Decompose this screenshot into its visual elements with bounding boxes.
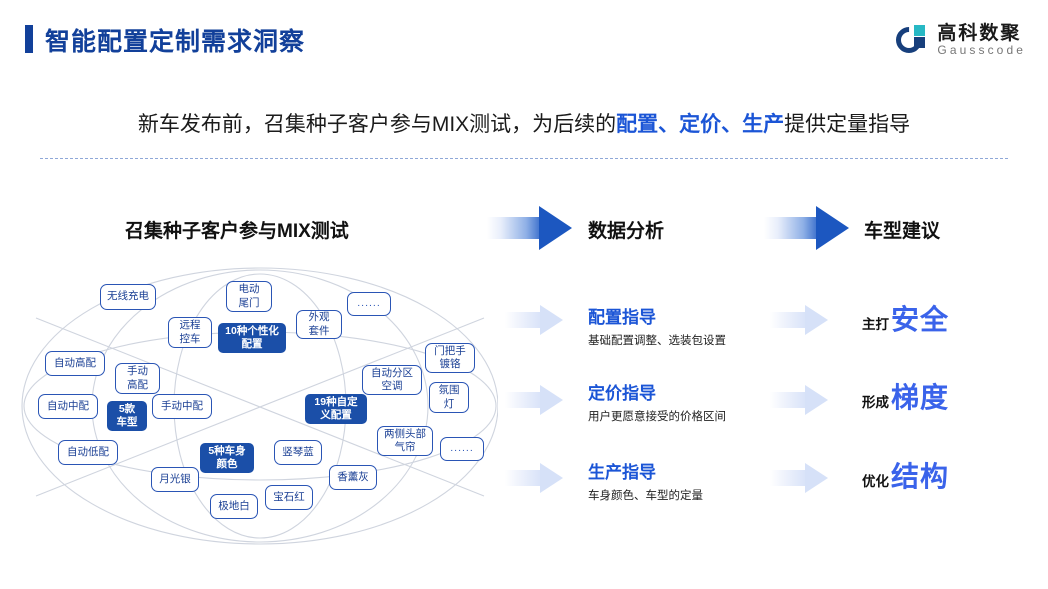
arrow-shaft (505, 392, 543, 408)
result-item-2: 形成 梯度 (862, 376, 949, 416)
diagram-node[interactable]: 远程 控车 (168, 317, 212, 348)
logo-square-teal-icon (914, 25, 925, 36)
diagram-node[interactable]: ...... (347, 292, 391, 316)
arrow-head (539, 206, 572, 250)
diagram-node[interactable]: 无线充电 (100, 284, 156, 310)
arrow-shaft (487, 217, 543, 239)
diagram-node[interactable]: 自动分区 空调 (362, 365, 422, 395)
logo-name-en: Gausscode (937, 44, 1026, 57)
result-prefix-2: 形成 (862, 391, 889, 411)
analysis-subtitle-2: 用户更愿意接受的价格区间 (588, 408, 726, 424)
analysis-subtitle-1: 基础配置调整、选装包设置 (588, 332, 726, 348)
result-item-1: 主打 安全 (862, 298, 949, 338)
diagram-node[interactable]: 极地白 (210, 494, 258, 519)
result-keyword-3: 结构 (891, 455, 949, 495)
diagram-node[interactable]: 自动高配 (45, 351, 105, 376)
diagram-node[interactable]: 10种个性化 配置 (218, 323, 286, 353)
slide-header: 智能配置定制需求洞察 高科数聚 Gausscode (0, 0, 1048, 74)
diagram-node[interactable]: 电动 尾门 (226, 281, 272, 312)
analysis-title-2: 定价指导 (588, 379, 726, 404)
arrow-head (540, 385, 563, 415)
diagram-node[interactable]: 月光银 (151, 467, 199, 492)
diagram-node[interactable]: 手动 高配 (115, 363, 160, 394)
title-accent-bar (25, 25, 33, 53)
arrow-head (816, 206, 849, 250)
analysis-title-3: 生产指导 (588, 458, 703, 483)
arrow-head (805, 463, 828, 493)
logo-text: 高科数聚 Gausscode (937, 24, 1026, 57)
result-keyword-1: 安全 (891, 298, 949, 338)
diagram-node[interactable]: 自动低配 (58, 440, 118, 465)
diagram-node[interactable]: ...... (440, 437, 484, 461)
flow-arrow-icon-2 (764, 206, 849, 250)
logo-square-navy-icon (914, 37, 925, 48)
page-title: 智能配置定制需求洞察 (45, 22, 305, 58)
diagram-node[interactable]: 门把手 镀铬 (425, 343, 475, 373)
analysis-title-1: 配置指导 (588, 303, 726, 328)
row-arrow-icon-right-3 (770, 463, 828, 493)
arrow-shaft (770, 312, 808, 328)
analysis-item-1[interactable]: 配置指导 基础配置调整、选装包设置 (588, 303, 726, 348)
diagram-node[interactable]: 19种自定 义配置 (305, 394, 367, 424)
diagram-node[interactable]: 竖琴蓝 (274, 440, 322, 465)
column-header-mix: 召集种子客户参与MIX测试 (125, 216, 349, 243)
arrow-shaft (505, 470, 543, 486)
diagram-node[interactable]: 外观 套件 (296, 310, 342, 339)
arrow-shaft (505, 312, 543, 328)
row-arrow-icon-mid-2 (505, 385, 563, 415)
section-divider (40, 158, 1008, 159)
diagram-node[interactable]: 氛围 灯 (429, 382, 469, 413)
flow-arrow-icon-1 (487, 206, 572, 250)
subtitle: 新车发布前，召集种子客户参与MIX测试，为后续的配置、定价、生产提供定量指导 (0, 108, 1048, 138)
diagram-node[interactable]: 手动中配 (152, 394, 212, 419)
analysis-item-3[interactable]: 生产指导 车身颜色、车型的定量 (588, 458, 703, 503)
arrow-head (540, 305, 563, 335)
arrow-shaft (764, 217, 820, 239)
result-keyword-2: 梯度 (891, 376, 949, 416)
arrow-shaft (770, 470, 808, 486)
analysis-subtitle-3: 车身颜色、车型的定量 (588, 487, 703, 503)
row-arrow-icon-right-2 (770, 385, 828, 415)
logo-glyph-icon (896, 23, 930, 57)
logo-name-cn: 高科数聚 (937, 24, 1026, 44)
subtitle-highlight: 配置、定价、生产 (616, 113, 784, 136)
slide-root: 智能配置定制需求洞察 高科数聚 Gausscode 新车发布前，召集种子客户参与… (0, 0, 1048, 589)
column-header-analysis: 数据分析 (588, 216, 664, 243)
arrow-head (805, 385, 828, 415)
diagram-node[interactable]: 5种车身 颜色 (200, 443, 254, 473)
brand-logo: 高科数聚 Gausscode (896, 18, 1026, 62)
result-prefix-3: 优化 (862, 470, 889, 490)
arrow-shaft (770, 392, 808, 408)
diagram-node[interactable]: 香薰灰 (329, 465, 377, 490)
result-item-3: 优化 结构 (862, 455, 949, 495)
analysis-item-2[interactable]: 定价指导 用户更愿意接受的价格区间 (588, 379, 726, 424)
row-arrow-icon-mid-1 (505, 305, 563, 335)
row-arrow-icon-mid-3 (505, 463, 563, 493)
diagram-node[interactable]: 5款 车型 (107, 401, 147, 431)
arrow-head (540, 463, 563, 493)
row-arrow-icon-right-1 (770, 305, 828, 335)
result-prefix-1: 主打 (862, 313, 889, 333)
subtitle-part-2: 提供定量指导 (784, 113, 910, 136)
arrow-head (805, 305, 828, 335)
diagram-node[interactable]: 自动中配 (38, 394, 98, 419)
diagram-node[interactable]: 两侧头部 气帘 (377, 426, 433, 456)
diagram-node[interactable]: 宝石红 (265, 485, 313, 510)
subtitle-part-1: 新车发布前，召集种子客户参与MIX测试，为后续的 (138, 113, 616, 136)
column-header-result: 车型建议 (864, 216, 940, 243)
